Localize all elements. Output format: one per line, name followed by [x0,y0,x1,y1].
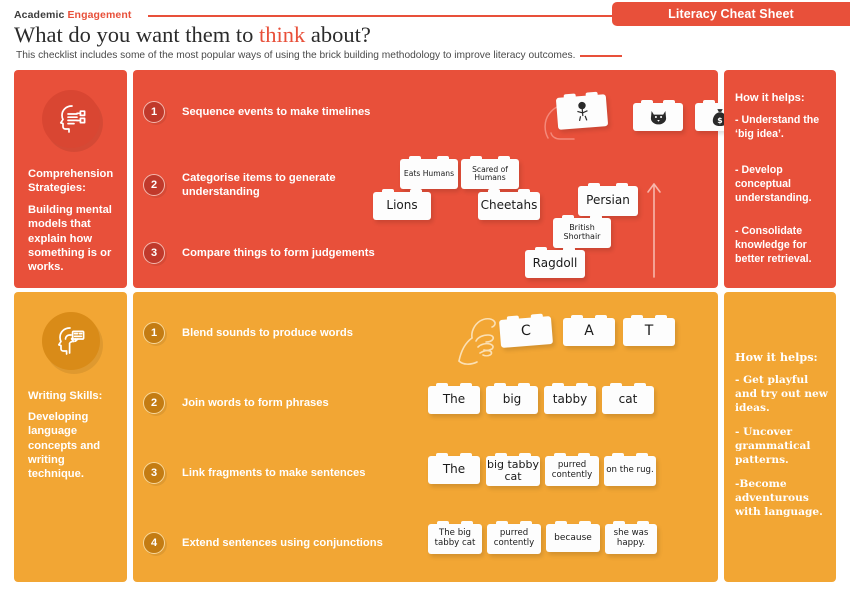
ribbon-label: Literacy Cheat Sheet [668,7,794,21]
comprehension-row-3[interactable]: 3 Compare things to form judgements [143,242,375,264]
brick-animal-icon[interactable] [633,103,683,131]
brick-scared-of-humans[interactable]: Scared of Humans [461,159,519,189]
help-item: - Get playful and try out new ideas. [735,374,830,415]
row-number: 1 [143,322,165,344]
brick-conj-purred-contently[interactable]: purred contently [487,524,541,554]
row-number: 3 [143,462,165,484]
row-label: Blend sounds to produce words [182,326,353,340]
brick-eats-humans[interactable]: Eats Humans [400,159,458,189]
row-label: Extend sentences using conjunctions [182,536,383,550]
row-number: 3 [143,242,165,264]
help-item: - Develop conceptual understanding. [735,164,830,205]
brick-phrase-big[interactable]: big [486,386,538,414]
comprehension-help-panel: How it helps: - Understand the ‘big idea… [724,70,836,288]
help-item: - Uncover grammatical patterns. [735,426,830,467]
row-number: 2 [143,392,165,414]
breadcrumb: Academic Engagement [14,9,131,21]
row-number: 2 [143,174,165,196]
row-number: 1 [143,101,165,123]
title-part-1: What do you want them to [14,22,259,47]
brick-letter-a[interactable]: A [563,318,615,346]
help-title: How it helps: [735,92,828,104]
help-item: -Become adventurous with language. [735,478,830,519]
writing-row-3[interactable]: 3 Link fragments to make sentences [143,462,365,484]
brick-conj-she-was-happy[interactable]: she was happy. [605,524,657,554]
section-comprehension: Comprehension Strategies: Building menta… [14,70,836,288]
comprehension-row-1[interactable]: 1 Sequence events to make timelines [143,101,370,123]
brick-lions[interactable]: Lions [373,192,431,220]
page-title: What do you want them to think about? [14,22,371,48]
brick-phrase-the[interactable]: The [428,386,480,414]
brick-british-shorthair[interactable]: British Shorthair [553,218,611,248]
row-label: Sequence events to make timelines [182,105,370,119]
brick-conj-the-big-tabby-cat[interactable]: The big tabby cat [428,524,482,554]
title-part-2: about? [305,22,371,47]
writing-row-4[interactable]: 4 Extend sentences using conjunctions [143,532,383,554]
page-subtitle: This checklist includes some of the most… [16,50,575,61]
child-icon [572,100,593,123]
writing-content-panel: 1 Blend sounds to produce words 2 Join w… [133,292,718,582]
brick-sentence-purred-contently[interactable]: purred contently [545,456,599,486]
head-with-list-icon [42,90,100,148]
brick-letter-c[interactable]: C [499,316,553,348]
breadcrumb-accent: Engagement [67,9,131,21]
writing-title: Writing Skills: [28,389,117,403]
writing-row-1[interactable]: 1 Blend sounds to produce words [143,322,353,344]
breadcrumb-primary: Academic [14,9,64,21]
writing-description: Developing language concepts and writing… [28,410,117,482]
header-rule [148,15,620,17]
brick-child-icon[interactable] [556,94,608,130]
brick-cheetahs[interactable]: Cheetahs [478,192,540,220]
help-item: - Understand the ‘big idea’. [735,114,830,142]
brick-phrase-tabby[interactable]: tabby [544,386,596,414]
svg-text:$: $ [717,115,722,124]
upward-arrow-icon [645,180,663,283]
row-number: 4 [143,532,165,554]
row-label: Link fragments to make sentences [182,466,365,480]
brick-ragdoll[interactable]: Ragdoll [525,250,585,278]
comprehension-title: Comprehension Strategies: [28,167,117,196]
brick-sentence-the[interactable]: The [428,456,480,484]
brick-persian[interactable]: Persian [578,186,638,216]
writing-row-2[interactable]: 2 Join words to form phrases [143,392,329,414]
help-item: - Consolidate knowledge for better retri… [735,225,830,266]
help-title: How it helps: [735,350,828,364]
head-with-hand-card-icon [42,312,100,370]
subtitle-rule [580,55,622,57]
comprehension-description: Building mental models that explain how … [28,203,117,275]
title-accent-word: think [259,22,305,47]
row-label: Join words to form phrases [182,396,329,410]
section-writing: Writing Skills: Developing language conc… [14,292,836,582]
brick-conj-because[interactable]: because [546,524,600,552]
brick-phrase-cat[interactable]: cat [602,386,654,414]
row-label: Compare things to form judgements [182,246,375,260]
brick-sentence-on-the-rug[interactable]: on the rug. [604,456,656,486]
comprehension-content-panel: 1 Sequence events to make timelines 2 Ca… [133,70,718,288]
brick-letter-t[interactable]: T [623,318,675,346]
writing-help-panel: How it helps: - Get playful and try out … [724,292,836,582]
comprehension-row-2[interactable]: 2 Categorise items to generate understan… [143,171,362,199]
comprehension-category-panel: Comprehension Strategies: Building menta… [14,70,127,288]
row-label: Categorise items to generate understandi… [182,171,362,199]
brick-sentence-big-tabby-cat[interactable]: big tabby cat [486,456,540,486]
animal-icon [649,108,668,126]
writing-category-panel: Writing Skills: Developing language conc… [14,292,127,582]
cheat-sheet-ribbon: Literacy Cheat Sheet [612,2,850,26]
cheat-sheet-page: Academic Engagement Literacy Cheat Sheet… [0,0,850,602]
